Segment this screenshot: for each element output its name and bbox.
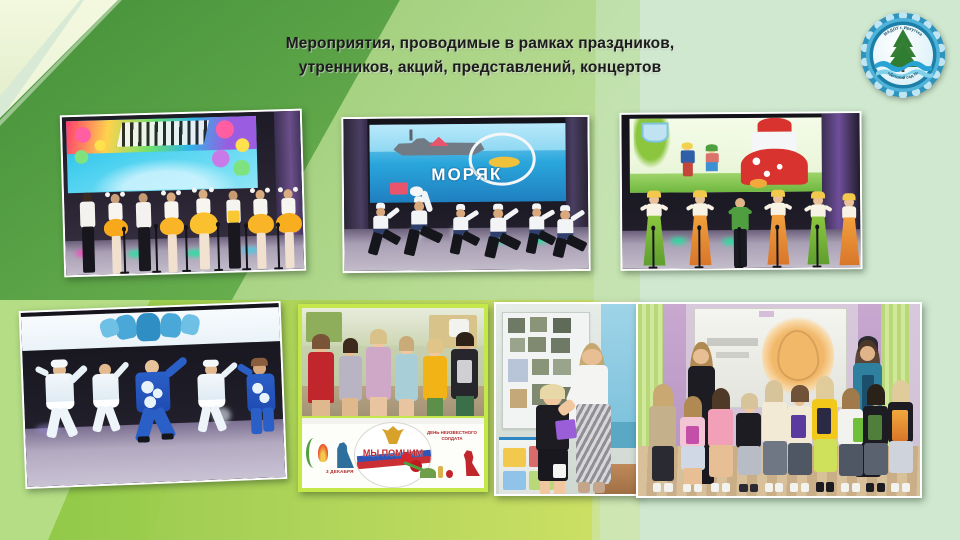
photo-group-with-prizes[interactable]: [636, 302, 922, 498]
page-title: Мероприятия, проводимые в рамках праздни…: [200, 32, 760, 80]
title-line-1: Мероприятия, проводимые в рамках праздни…: [200, 32, 760, 56]
photo-folk-ensemble[interactable]: [619, 111, 862, 271]
kindergarten-emblem-logo: МАДОУ г. Иркутска «Детский сад №: [860, 12, 946, 98]
photo-gzhel-dance[interactable]: [19, 301, 288, 489]
photo-teacher-and-boy[interactable]: [494, 302, 640, 496]
memory-banner: 3 ДЕКАБРЯ МЫ ПОМНИМ ДЕНЬ НЕИЗВЕСТНОГО СО…: [302, 416, 484, 488]
photo-sailor-dance[interactable]: МОРЯК: [341, 115, 590, 273]
title-line-2: утренников, акций, представлений, концер…: [200, 56, 760, 80]
photo-choir-yellow-dresses[interactable]: [60, 109, 306, 278]
photo-memory-action[interactable]: 3 ДЕКАБРЯ МЫ ПОМНИМ ДЕНЬ НЕИЗВЕСТНОГО СО…: [298, 304, 488, 492]
